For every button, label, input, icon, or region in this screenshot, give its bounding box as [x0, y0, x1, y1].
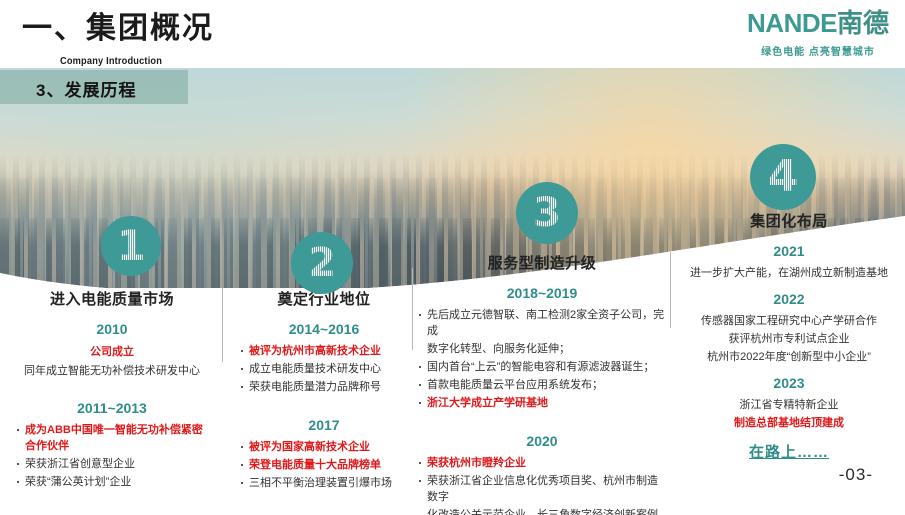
timeline-column-3-year-1: 2018~2019	[418, 285, 666, 301]
section-band-label: 3、发展历程	[36, 76, 136, 101]
page-number: -03-	[839, 465, 873, 485]
timeline-column-2-year-1: 2014~2016	[240, 321, 408, 337]
timeline-column-3-list-2: 荣获杭州市瞪羚企业 荣获浙江省企业信息化优秀项目奖、杭州市制造数字 化改造公关示…	[418, 455, 666, 515]
timeline-column-4-year-3: 2023	[678, 375, 900, 391]
timeline-column-1-year-2: 2011~2013	[16, 400, 208, 416]
logo-chinese-text: 南德	[837, 8, 889, 38]
timeline-number-1: 1	[116, 225, 145, 267]
timeline-column-4-year-1: 2021	[678, 243, 900, 259]
list-item: 三相不平衡治理装置引爆市场	[240, 475, 408, 491]
timeline-column-2: 奠定行业地位 2014~2016 被评为杭州市高新技术企业 成立电能质量技术研发…	[240, 288, 408, 493]
logo-tagline: 绿色电能 点亮智慧城市	[747, 43, 889, 58]
list-item: 荣登电能质量十大品牌榜单	[240, 457, 408, 473]
list-item: 荣获杭州市瞪羚企业	[418, 455, 666, 471]
timeline-column-4-line: 进一步扩大产能，在湖州成立新制造基地	[678, 265, 900, 282]
timeline-column-4-line: 制造总部基地结顶建成	[678, 415, 900, 432]
timeline-column-2-list-2: 被评为国家高新技术企业 荣登电能质量十大品牌榜单 三相不平衡治理装置引爆市场	[240, 439, 408, 491]
slide-root: 一、集团概况 Company Introduction NANDE南德 绿色电能…	[0, 0, 905, 515]
timeline-column-2-list-1: 被评为杭州市高新技术企业 成立电能质量技术研发中心 荣获电能质量潜力品牌称号	[240, 343, 408, 395]
timeline-column-4-year-2: 2022	[678, 291, 900, 307]
list-item: 荣获“蒲公英计划”企业	[16, 474, 208, 490]
list-item: 化改造公关示范企业、长三角数字经济创新案例企业	[418, 507, 666, 515]
page-title: 一、集团概况	[22, 14, 214, 44]
list-item: 荣获浙江省创意型企业	[16, 456, 208, 472]
timeline-column-1: 进入电能质量市场 2010 公司成立 同年成立智能无功补偿技术研发中心 2011…	[16, 288, 208, 492]
timeline-column-4: 集团化布局 2021 进一步扩大产能，在湖州成立新制造基地 2022 传感器国家…	[678, 210, 900, 462]
timeline-marker-2: 2	[291, 232, 353, 294]
column-divider-1	[222, 288, 223, 362]
page-subtitle: Company Introduction	[60, 55, 162, 67]
timeline-column-3: 服务型制造升级 2018~2019 先后成立元德智联、南工检测2家全资子公司，完…	[418, 252, 666, 515]
timeline-column-4-line: 传感器国家工程研究中心产学研合作	[678, 313, 900, 330]
list-item: 成立电能质量技术研发中心	[240, 361, 408, 377]
list-item: 荣获浙江省企业信息化优秀项目奖、杭州市制造数字	[418, 473, 666, 505]
logo-wordmark: NANDE南德	[747, 10, 889, 36]
timeline-column-1-lead: 公司成立	[16, 343, 208, 359]
company-logo: NANDE南德 绿色电能 点亮智慧城市	[747, 10, 889, 58]
list-item: 先后成立元德智联、南工检测2家全资子公司，完成	[418, 307, 666, 339]
list-item: 首款电能质量云平台应用系统发布；	[418, 377, 666, 393]
timeline-column-1-list-2: 成为ABB中国唯一智能无功补偿紧密合作伙伴 荣获浙江省创意型企业 荣获“蒲公英计…	[16, 422, 208, 490]
list-item: 国内首台“上云”的智能电容和有源滤波器诞生；	[418, 359, 666, 375]
timeline-column-3-heading: 服务型制造升级	[418, 252, 666, 273]
list-item: 被评为国家高新技术企业	[240, 439, 408, 455]
timeline-marker-4: 4	[750, 144, 816, 210]
timeline-column-2-year-2: 2017	[240, 417, 408, 433]
column-divider-2	[412, 268, 413, 350]
list-item: 荣获电能质量潜力品牌称号	[240, 379, 408, 395]
logo-latin-text: NANDE	[747, 8, 837, 38]
timeline-marker-3: 3	[516, 182, 578, 244]
timeline-marker-1: 1	[101, 216, 161, 276]
list-item: 成为ABB中国唯一智能无功补偿紧密合作伙伴	[16, 422, 208, 454]
timeline-column-1-year-1: 2010	[16, 321, 208, 337]
list-item: 浙江大学成立产学研基地	[418, 395, 666, 411]
column-divider-3	[670, 252, 671, 328]
timeline-column-4-line: 杭州市2022年度“创新型中小企业”	[678, 349, 900, 366]
timeline-column-4-line: 浙江省专精特新企业	[678, 397, 900, 414]
timeline-column-1-heading: 进入电能质量市场	[16, 288, 208, 309]
timeline-column-4-heading: 集团化布局	[678, 210, 900, 231]
section-band-chip: 3、发展历程	[0, 70, 188, 104]
timeline-column-4-line: 获评杭州市专利试点企业	[678, 331, 900, 348]
timeline-column-3-year-2: 2020	[418, 433, 666, 449]
timeline-number-4: 4	[768, 155, 799, 199]
list-item: 被评为杭州市高新技术企业	[240, 343, 408, 359]
list-item: 数字化转型、向服务化延伸；	[418, 341, 666, 357]
timeline-number-2: 2	[308, 243, 336, 283]
timeline-column-4-footer: 在路上……	[678, 441, 900, 462]
timeline-number-3: 3	[533, 193, 561, 233]
timeline-column-1-lead-note: 同年成立智能无功补偿技术研发中心	[16, 362, 208, 378]
timeline-column-3-list-1: 先后成立元德智联、南工检测2家全资子公司，完成 数字化转型、向服务化延伸； 国内…	[418, 307, 666, 411]
